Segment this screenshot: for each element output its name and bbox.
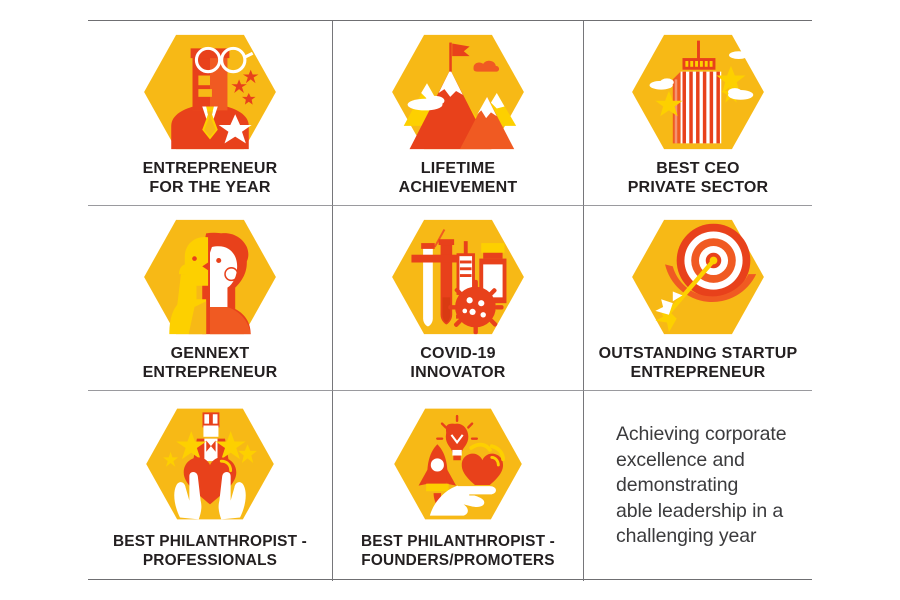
award-label: BEST CEO PRIVATE SECTOR [624, 159, 773, 197]
award-cell-gennext-entrepreneur[interactable]: GENNEXT ENTREPRENEUR [88, 206, 333, 391]
award-label: ENTREPRENEUR FOR THE YEAR [139, 159, 282, 197]
award-cell-best-philanthropist-founders-promoters[interactable]: BEST PHILANTHROPIST - FOUNDERS/PROMOTERS [333, 391, 584, 581]
two-generation-profiles-hexagon-icon [142, 214, 278, 340]
award-label: COVID-19 INNOVATOR [406, 344, 509, 382]
award-description-cell: Achieving corporate excellence and demon… [584, 391, 812, 581]
award-cell-outstanding-startup-entrepreneur[interactable]: OUTSTANDING STARTUP ENTREPRENEUR [584, 206, 812, 391]
award-label: LIFETIME ACHIEVEMENT [395, 159, 522, 197]
award-label: BEST PHILANTHROPIST - FOUNDERS/PROMOTERS [357, 533, 559, 570]
test-tubes-syringe-virus-hexagon-icon [390, 214, 526, 340]
skyscraper-with-stars-hexagon-icon [630, 29, 766, 155]
target-with-arrow-hexagon-icon [630, 214, 766, 340]
hands-holding-heart-with-professional-hexagon-icon [144, 403, 276, 525]
award-cell-covid-19-innovator[interactable]: COVID-19 INNOVATOR [333, 206, 584, 391]
award-label: GENNEXT ENTREPRENEUR [139, 344, 282, 382]
businessman-with-glasses-and-star-hexagon-icon [142, 29, 278, 155]
rocket-bulb-heart-hand-hexagon-icon [392, 403, 524, 525]
award-cell-best-ceo-private-sector[interactable]: BEST CEO PRIVATE SECTOR [584, 21, 812, 206]
mountain-peak-with-flag-hexagon-icon [390, 29, 526, 155]
awards-grid: ENTREPRENEUR FOR THE YEAR [88, 20, 812, 580]
award-cell-entrepreneur-for-the-year[interactable]: ENTREPRENEUR FOR THE YEAR [88, 21, 333, 206]
award-cell-best-philanthropist-professionals[interactable]: BEST PHILANTHROPIST - PROFESSIONALS [88, 391, 333, 581]
award-label: OUTSTANDING STARTUP ENTREPRENEUR [595, 344, 802, 382]
award-description-text: Achieving corporate excellence and demon… [616, 422, 786, 550]
award-label: BEST PHILANTHROPIST - PROFESSIONALS [109, 533, 311, 570]
awards-grid-page: ENTREPRENEUR FOR THE YEAR [0, 0, 900, 600]
award-cell-lifetime-achievement[interactable]: LIFETIME ACHIEVEMENT [333, 21, 584, 206]
